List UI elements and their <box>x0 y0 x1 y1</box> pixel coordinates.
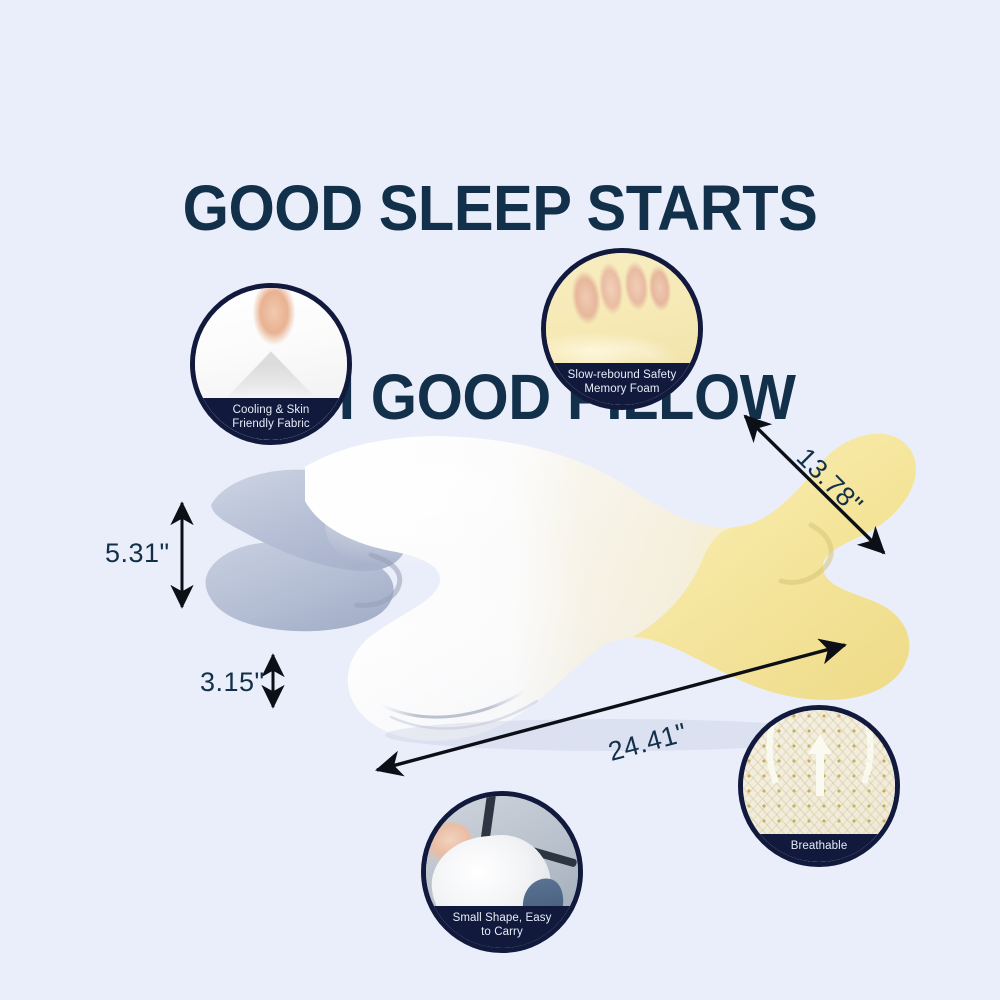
feature-caption-line-1: Small Shape, Easy <box>432 911 572 926</box>
feature-caption-easy-to-carry: Small Shape, Easy to Carry <box>426 906 578 948</box>
feature-caption-cooling-fabric: Cooling & Skin Friendly Fabric <box>195 398 347 440</box>
airflow-arrow-right-icon <box>855 724 877 786</box>
feature-badge-cooling-fabric[interactable]: Cooling & Skin Friendly Fabric <box>190 283 352 445</box>
feature-caption-memory-foam: Slow-rebound Safety Memory Foam <box>546 363 698 405</box>
feature-badge-easy-to-carry[interactable]: Small Shape, Easy to Carry <box>421 791 583 953</box>
feature-caption-line-2: Memory Foam <box>552 382 692 397</box>
feature-badge-memory-foam[interactable]: Slow-rebound Safety Memory Foam <box>541 248 703 410</box>
feature-caption-line-2: to Carry <box>432 925 572 940</box>
feature-caption-breathable: Breathable <box>743 834 895 862</box>
feature-caption-line-2: Friendly Fabric <box>201 417 341 432</box>
pillow-highlight <box>325 463 565 587</box>
airflow-arrow-center-icon <box>805 732 835 798</box>
airflow-arrow-left-icon <box>763 724 785 786</box>
feature-caption-line-1: Slow-rebound Safety <box>552 368 692 383</box>
title-line-1: GOOD SLEEP STARTS <box>35 177 965 240</box>
feature-caption-line-1: Breathable <box>749 839 889 854</box>
feature-badge-breathable[interactable]: Breathable <box>738 705 900 867</box>
infographic-canvas: GOOD SLEEP STARTS WITH GOOD PILLOW <box>0 0 1000 1000</box>
dimension-label-height-front: 3.15" <box>200 667 265 698</box>
dimension-label-height-left: 5.31" <box>105 538 170 569</box>
feature-caption-line-1: Cooling & Skin <box>201 403 341 418</box>
